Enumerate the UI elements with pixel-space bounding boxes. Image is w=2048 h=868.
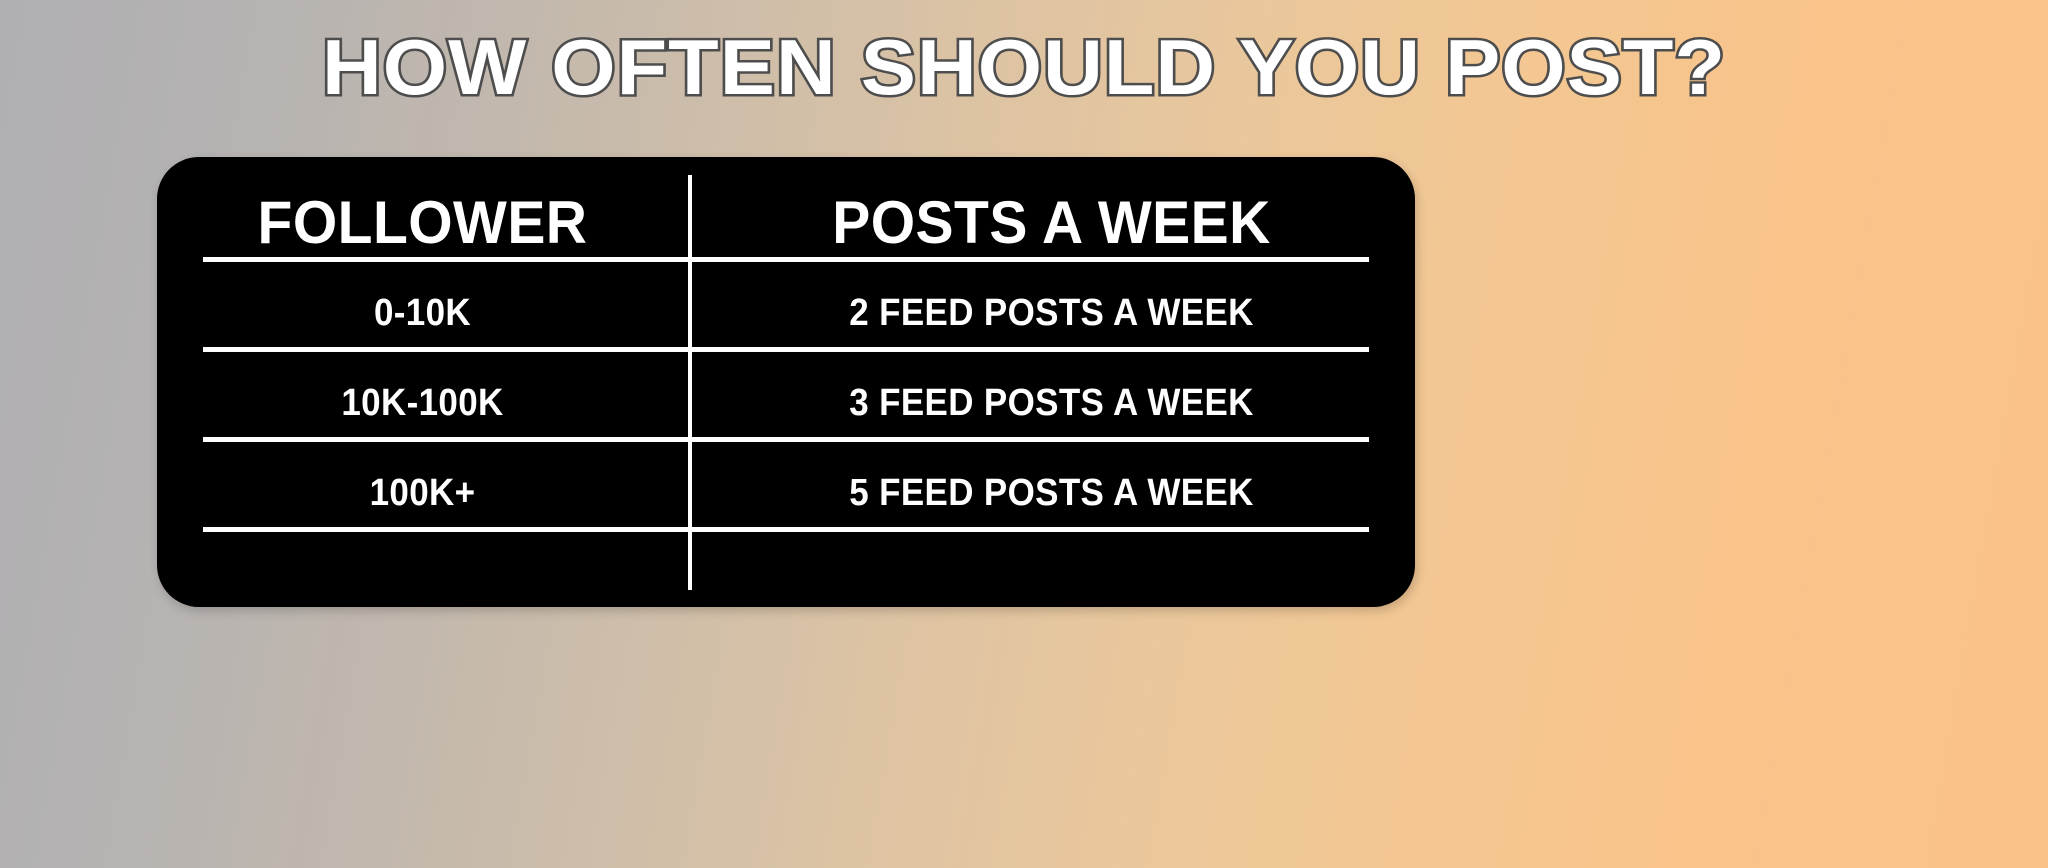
column-header-follower: FOLLOWER — [170, 179, 674, 265]
posting-frequency-table: FOLLOWER POSTS A WEEK 0-10K 2 FEED POSTS… — [157, 157, 1415, 607]
cell-posts-per-week: 2 FEED POSTS A WEEK — [717, 268, 1386, 358]
cell-follower-range: 0-10K — [178, 268, 667, 358]
page-title: HOW OFTEN SHOULD YOU POST? — [0, 28, 2048, 106]
table-row: 100K+ 5 FEED POSTS A WEEK — [157, 448, 1415, 538]
table-row: 10K-100K 3 FEED POSTS A WEEK — [157, 358, 1415, 448]
posting-frequency-card: FOLLOWER POSTS A WEEK 0-10K 2 FEED POSTS… — [157, 157, 1415, 607]
infographic-canvas: HOW OFTEN SHOULD YOU POST? FOLLOWER POST… — [0, 0, 2048, 868]
cell-posts-per-week: 5 FEED POSTS A WEEK — [717, 448, 1386, 538]
cell-posts-per-week: 3 FEED POSTS A WEEK — [717, 358, 1386, 448]
table-header-row: FOLLOWER POSTS A WEEK — [157, 179, 1415, 265]
cell-follower-range: 10K-100K — [178, 358, 667, 448]
column-header-posts-a-week: POSTS A WEEK — [706, 179, 1397, 265]
table-row: 0-10K 2 FEED POSTS A WEEK — [157, 268, 1415, 358]
cell-follower-range: 100K+ — [178, 448, 667, 538]
